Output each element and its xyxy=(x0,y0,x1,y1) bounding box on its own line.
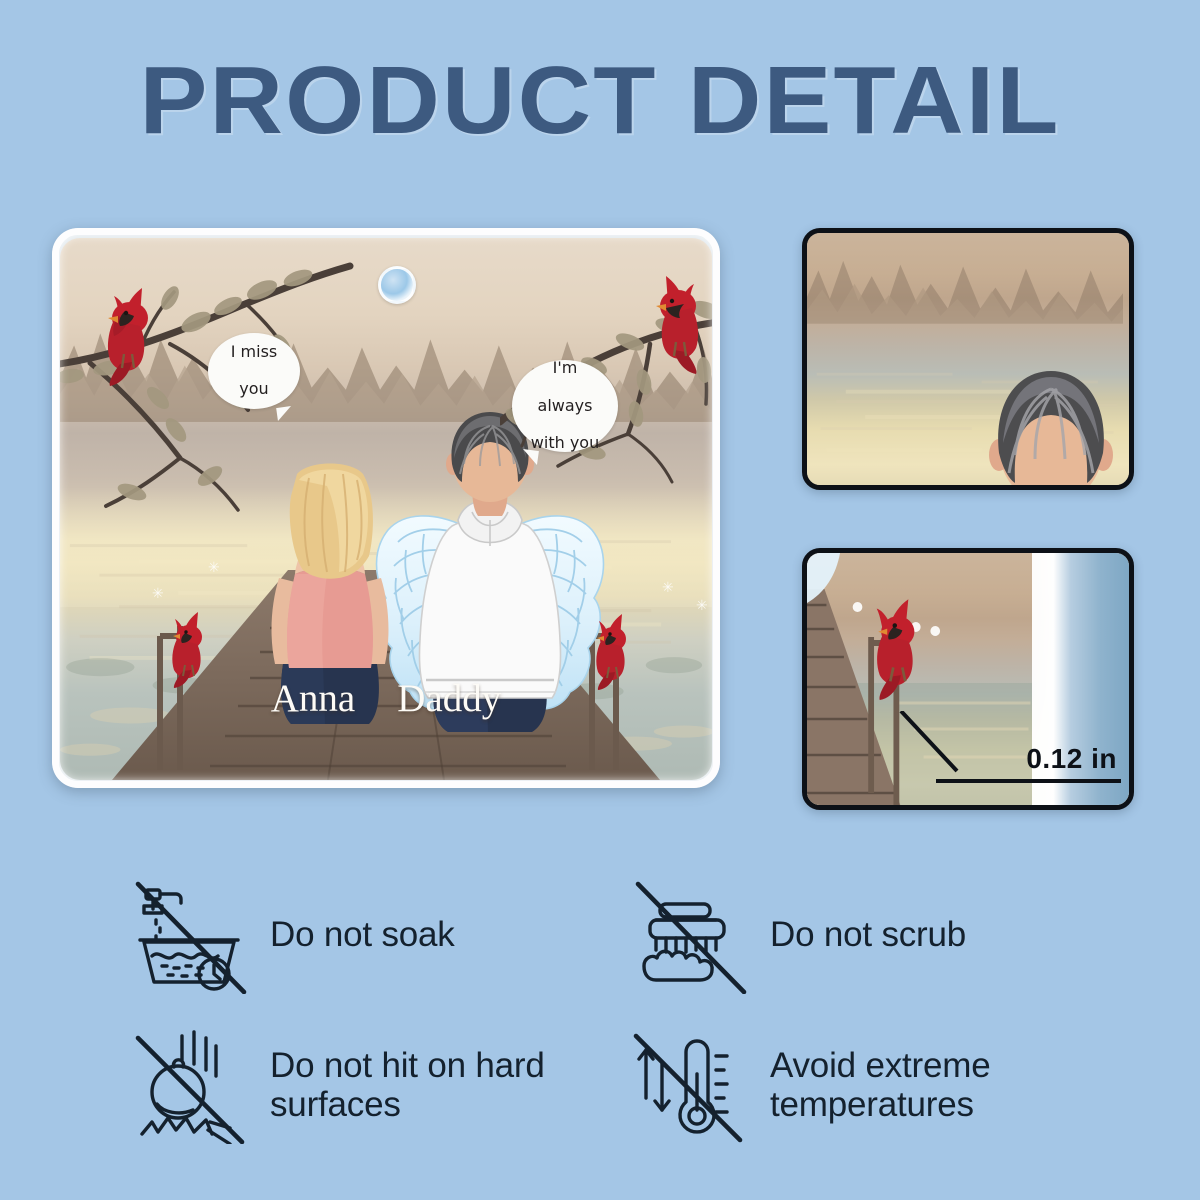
thickness-measure-line xyxy=(936,779,1121,783)
care-label-no-scrub: Do not scrub xyxy=(770,915,966,954)
snowflake-icon: ✳ xyxy=(662,580,674,594)
snowflake-icon: ✳ xyxy=(696,598,708,612)
snowflake-icon: ✳ xyxy=(152,586,164,600)
thickness-leader-line xyxy=(899,711,979,781)
speech-bubble-girl: I miss you xyxy=(208,333,300,409)
name-girl: Anna xyxy=(271,676,355,721)
cardinal-top-left-icon xyxy=(84,276,174,386)
inset-print-closeup[interactable] xyxy=(802,228,1134,490)
bubble-man-line1: I'm xyxy=(525,359,605,378)
no-soak-icon xyxy=(130,876,248,994)
personalized-names: Anna Daddy xyxy=(60,676,712,721)
name-man: Daddy xyxy=(397,676,501,721)
no-scrub-icon xyxy=(630,876,748,994)
no-extreme-temperature-icon xyxy=(630,1026,748,1144)
cardinal-top-right-icon xyxy=(632,266,712,374)
plaque-artwork: ✳ ✳ ✳ ✳ xyxy=(60,238,712,780)
care-instructions: Do not soak Do xyxy=(130,860,1090,1160)
hang-hole xyxy=(378,266,416,304)
care-item-no-soak: Do not soak xyxy=(130,860,630,1010)
care-label-no-extreme-temp: Avoid extreme temperatures xyxy=(770,1046,1090,1124)
inset-gray-hair-closeup xyxy=(981,363,1119,490)
care-item-no-extreme-temp: Avoid extreme temperatures xyxy=(630,1010,1090,1160)
inset-forest-silhouette xyxy=(807,238,1123,324)
bubble-man-line2: always xyxy=(525,397,605,416)
bubble-girl-line1: I miss xyxy=(225,343,284,362)
care-label-no-soak: Do not soak xyxy=(270,915,455,954)
bubble-girl-line2: you xyxy=(225,380,284,399)
care-label-no-impact: Do not hit on hard surfaces xyxy=(270,1046,630,1124)
bubble-man-line3: with you xyxy=(525,434,605,453)
speech-bubble-man: I'm always with you xyxy=(512,360,618,452)
care-item-no-scrub: Do not scrub xyxy=(630,860,1090,1010)
inset-thickness[interactable]: 0.12 in xyxy=(802,548,1134,810)
product-plaque[interactable]: ✳ ✳ ✳ ✳ xyxy=(52,228,720,788)
product-detail-page: PRODUCT DETAIL xyxy=(0,0,1200,1200)
snowflake-icon: ✳ xyxy=(208,560,220,574)
thickness-value: 0.12 in xyxy=(1026,743,1117,775)
care-item-no-impact: Do not hit on hard surfaces xyxy=(130,1010,630,1160)
page-title: PRODUCT DETAIL xyxy=(0,46,1200,156)
no-impact-icon xyxy=(130,1026,248,1144)
